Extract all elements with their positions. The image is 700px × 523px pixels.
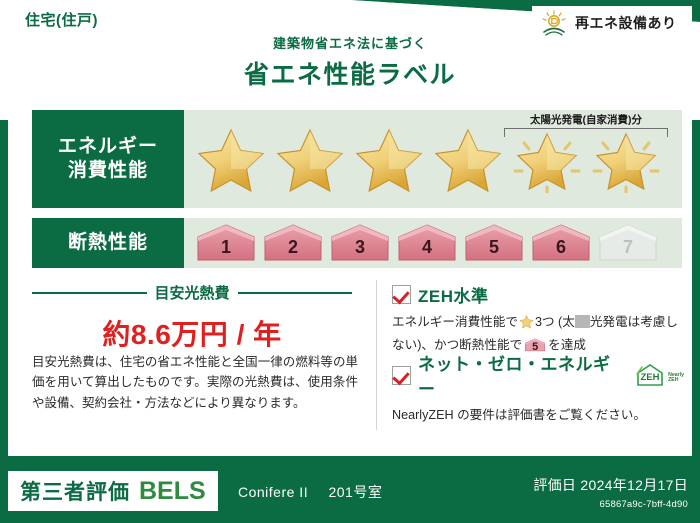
insulation-performance-row: 断熱性能 1 — [32, 218, 682, 268]
renewable-badge-label: 再エネ設備あり — [575, 13, 677, 33]
insulation-level-6: 6 — [529, 222, 593, 264]
energy-label-line2: 消費性能 — [68, 159, 148, 183]
evaluation-id: 65867a9c-7bff-4d90 — [533, 499, 688, 510]
solar-note-label: 太陽光発電(自家消費)分 — [498, 112, 674, 127]
sun-energy-icon — [540, 10, 568, 36]
renewable-energy-badge: 再エネ設備あり — [532, 6, 692, 40]
divider-right — [238, 292, 353, 294]
zeh-house-icon: ZEH — [635, 363, 665, 387]
insulation-level-value: 5 — [489, 237, 499, 264]
insulation-level-1: 1 — [194, 222, 258, 264]
net-zero-text: NearlyZEH の要件は評価書をご覧ください。 — [392, 406, 684, 426]
zeh-logo-sub: Nearly ZEH — [668, 373, 684, 387]
insulation-level-value: 7 — [623, 237, 633, 264]
insulation-level-value: 4 — [422, 237, 432, 264]
label-footer: 第三者評価 BELS Conifere II 201号室 評価日 2024年12… — [0, 463, 700, 523]
star-filled-2 — [271, 124, 349, 194]
zeh-standard-title: ZEH水準 — [418, 282, 489, 307]
net-zero-title: ネット・ゼロ・エネルギー — [418, 350, 622, 400]
inline-insulation-badge: 5 — [524, 337, 546, 353]
solar-bracket — [504, 128, 668, 137]
insulation-level-scale: 1 2 3 — [184, 222, 660, 264]
energy-performance-row: エネルギー 消費性能 — [32, 110, 682, 208]
insulation-level-5: 5 — [462, 222, 526, 264]
insulation-level-value: 3 — [355, 237, 365, 264]
insulation-rating-body: 1 2 3 — [184, 218, 682, 268]
vertical-divider — [376, 280, 377, 430]
net-zero-checkbox — [392, 366, 411, 385]
room-number: 201号室 — [328, 484, 382, 500]
utility-cost-title-row: 目安光熱費 — [32, 282, 352, 303]
star-filled-3 — [350, 124, 428, 194]
inline-star-icon — [519, 314, 534, 336]
redacted-character — [575, 315, 590, 328]
energy-performance-label: エネルギー 消費性能 — [32, 110, 184, 208]
zeh-logo: ZEH Nearly ZEH — [635, 363, 684, 387]
net-zero-header: ネット・ゼロ・エネルギー ZEH Nearly ZEH — [392, 350, 684, 400]
insulation-level-3: 3 — [328, 222, 392, 264]
evaluation-info: 評価日 2024年12月17日 65867a9c-7bff-4d90 — [533, 475, 688, 510]
insulation-level-value: 1 — [221, 237, 231, 264]
utility-cost-value: 約8.6万円 / 年 — [32, 313, 352, 353]
zeh-standard-block: ZEH水準 エネルギー消費性能で3つ (太光発電は考慮しない)、かつ断熱性能で5… — [392, 282, 684, 356]
insulation-level-2: 2 — [261, 222, 325, 264]
utility-cost-title: 目安光熱費 — [155, 282, 230, 303]
star-filled-1 — [192, 124, 270, 194]
zeh-standard-checkbox — [392, 285, 411, 304]
building-info: Conifere II 201号室 — [238, 482, 382, 502]
third-party-label: 第三者評価 — [20, 476, 130, 506]
zeh-logo-sub-line2: ZEH — [668, 377, 678, 383]
insulation-performance-label: 断熱性能 — [32, 218, 184, 268]
zeh-text-part1: エネルギー消費性能で — [392, 315, 518, 329]
utility-cost-note: 目安光熱費は、住宅の省エネ性能と全国一律の燃料等の単価を用いて算出したものです。… — [32, 352, 358, 413]
utility-cost-block: 目安光熱費 約8.6万円 / 年 — [32, 282, 352, 353]
insulation-level-value: 2 — [288, 237, 298, 264]
page-title: 省エネ性能ラベル — [0, 55, 700, 91]
divider-left — [32, 292, 147, 294]
energy-label-line1: エネルギー — [58, 135, 158, 159]
net-zero-energy-block: ネット・ゼロ・エネルギー ZEH Nearly ZEH NearlyZEH の要… — [392, 350, 684, 426]
insulation-level-4: 4 — [395, 222, 459, 264]
star-filled-4 — [429, 124, 507, 194]
insulation-level-7: 7 — [596, 222, 660, 264]
building-name: Conifere II — [238, 484, 308, 500]
bels-plate: 第三者評価 BELS — [8, 471, 218, 511]
zeh-standard-header: ZEH水準 — [392, 282, 684, 307]
insulation-level-value: 6 — [556, 237, 566, 264]
energy-rating-body: 太陽光発電(自家消費)分 — [184, 110, 682, 208]
bels-energy-label: 住宅(住戸) 再エネ設備あり 建築物省エネ法に基づく 省エネ性能ラベル エネ — [0, 0, 700, 523]
evaluation-date: 評価日 2024年12月17日 — [533, 475, 688, 495]
svg-text:ZEH: ZEH — [641, 372, 660, 383]
inline-badge-value: 5 — [524, 342, 546, 353]
zeh-text-part2: 3つ (太 — [535, 315, 575, 329]
content-card: エネルギー 消費性能 — [8, 94, 692, 456]
category-tag: 住宅(住戸) — [0, 0, 123, 38]
bels-label: BELS — [139, 477, 206, 506]
